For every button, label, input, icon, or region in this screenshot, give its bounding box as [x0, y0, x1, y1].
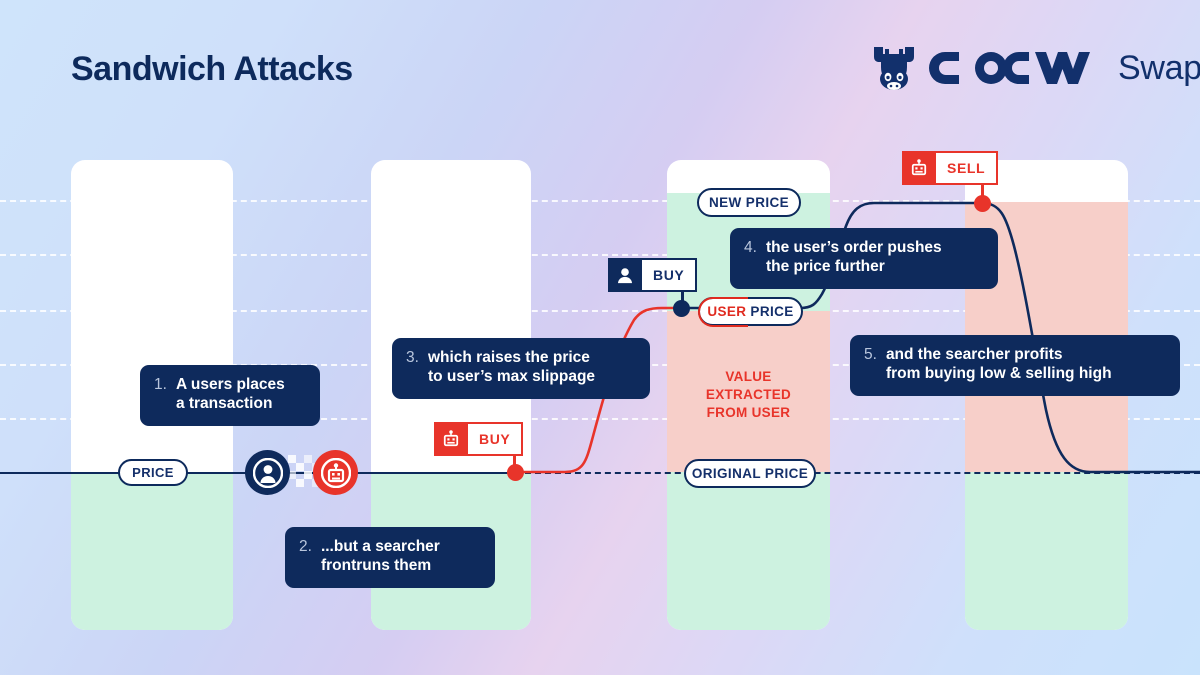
step-1-number: 1.: [154, 376, 167, 395]
original-price-label-text: ORIGINAL PRICE: [692, 466, 808, 481]
new-price-label: NEW PRICE: [697, 188, 801, 217]
searcher-buy-flag[interactable]: BUY: [434, 422, 523, 456]
robot-icon: [434, 422, 468, 456]
user-avatar-icon: [245, 450, 290, 495]
user-price-label: USER PRICE: [698, 297, 803, 326]
new-price-label-text: NEW PRICE: [709, 195, 789, 210]
price-axis-label: PRICE: [118, 459, 188, 486]
user-price-point: [673, 300, 690, 317]
searcher-sell-flag-label: SELL: [936, 151, 998, 185]
step-5-text: and the searcher profits from buying low…: [886, 346, 1112, 384]
step-3-callout: 3. which raises the price to user’s max …: [392, 338, 650, 399]
step-2-number: 2.: [299, 538, 312, 557]
sell-price-point: [974, 195, 991, 212]
step-3-number: 3.: [406, 349, 419, 368]
step-4-number: 4.: [744, 239, 757, 258]
searcher-sell-flag[interactable]: SELL: [902, 151, 998, 185]
infographic-canvas: Sandwich Attacks: [0, 0, 1200, 675]
user-price-label-text-navy: PRICE: [750, 304, 793, 319]
step-4-callout: 4. the user’s order pushes the price fur…: [730, 228, 998, 289]
value-extracted-annotation: VALUE EXTRACTED FROM USER: [667, 368, 830, 423]
user-price-label-text-red: USER: [707, 304, 746, 319]
step-4-text: the user’s order pushes the price furthe…: [766, 239, 942, 277]
step-2-callout: 2. ...but a searcher frontruns them: [285, 527, 495, 588]
price-axis-label-text: PRICE: [132, 465, 174, 480]
step-1-text: A users places a transaction: [176, 376, 285, 414]
original-price-point: [507, 464, 524, 481]
step-2-text: ...but a searcher frontruns them: [321, 538, 440, 576]
user-buy-flag[interactable]: BUY: [608, 258, 697, 292]
original-price-label: ORIGINAL PRICE: [684, 459, 816, 488]
step-5-callout: 5. and the searcher profits from buying …: [850, 335, 1180, 396]
searcher-buy-flag-label: BUY: [468, 422, 523, 456]
robot-avatar-icon: [313, 450, 358, 495]
user-price-label-inner: USER PRICE: [698, 297, 803, 326]
user-icon: [608, 258, 642, 292]
step-1-callout: 1. A users places a transaction: [140, 365, 320, 426]
step-3-text: which raises the price to user’s max sli…: [428, 349, 595, 387]
robot-icon: [902, 151, 936, 185]
step-5-number: 5.: [864, 346, 877, 365]
user-buy-flag-label: BUY: [642, 258, 697, 292]
